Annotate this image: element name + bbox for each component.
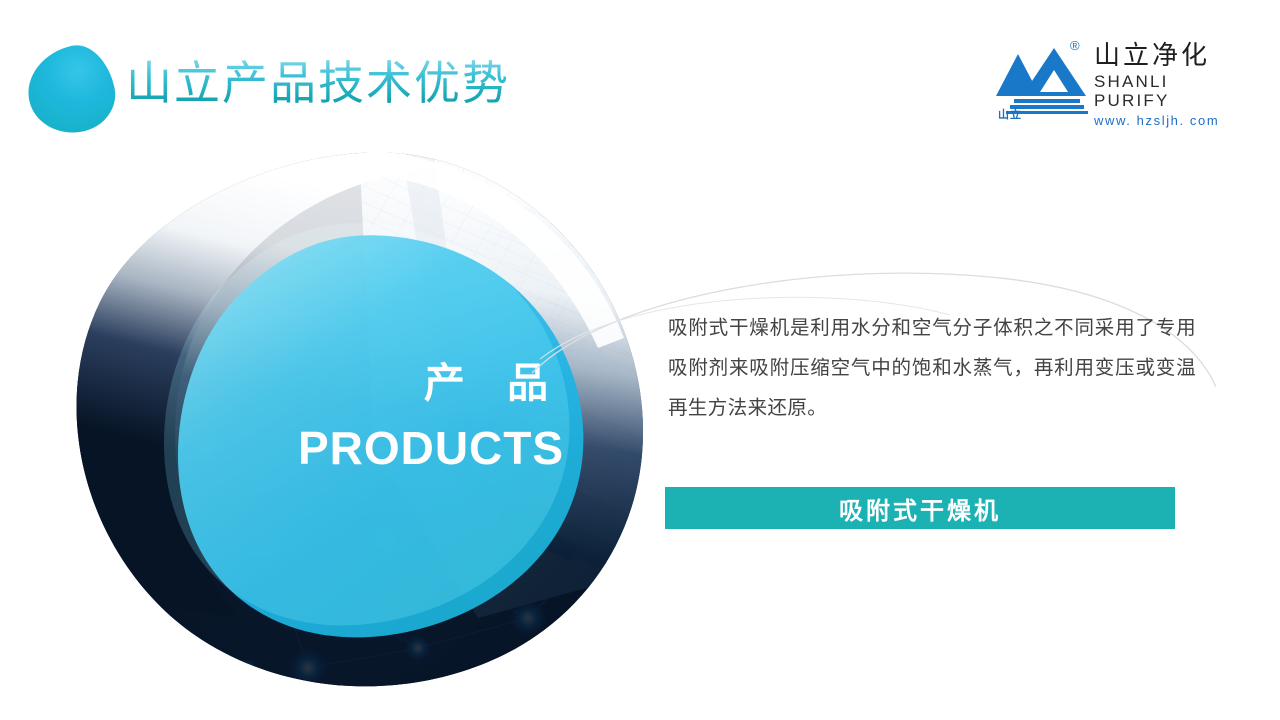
slide-header: 山立产品技术优势 ® 山立 山立净化 SHANLI PURIFY www. hz… [0,0,1280,150]
blob-icon [20,39,122,141]
logo-website-url: www. hzsljh. com [1094,113,1222,129]
registered-trademark-icon: ® [1070,38,1080,53]
logo-mark-caption: 山立 [998,106,1022,122]
logo-wordmark: 山立净化 SHANLI PURIFY www. hzsljh. com [1094,42,1222,128]
page-title: 山立产品技术优势 [126,58,510,109]
products-blob-graphic: 产 品 PRODUCTS [58,148,668,693]
product-description: 吸附式干燥机是利用水分和空气分子体积之不同采用了专用吸附剂来吸附压缩空气中的饱和… [668,308,1196,428]
product-name-banner: 吸附式干燥机 [665,487,1175,529]
logo-company-name-en: SHANLI PURIFY [1094,72,1222,111]
company-logo: ® 山立 山立净化 SHANLI PURIFY www. hzsljh. com [996,38,1218,124]
logo-company-name-cn: 山立净化 [1094,42,1222,71]
product-name-banner-label: 吸附式干燥机 [839,491,1001,526]
slide-root: 山立产品技术优势 ® 山立 山立净化 SHANLI PURIFY www. hz… [0,0,1280,720]
